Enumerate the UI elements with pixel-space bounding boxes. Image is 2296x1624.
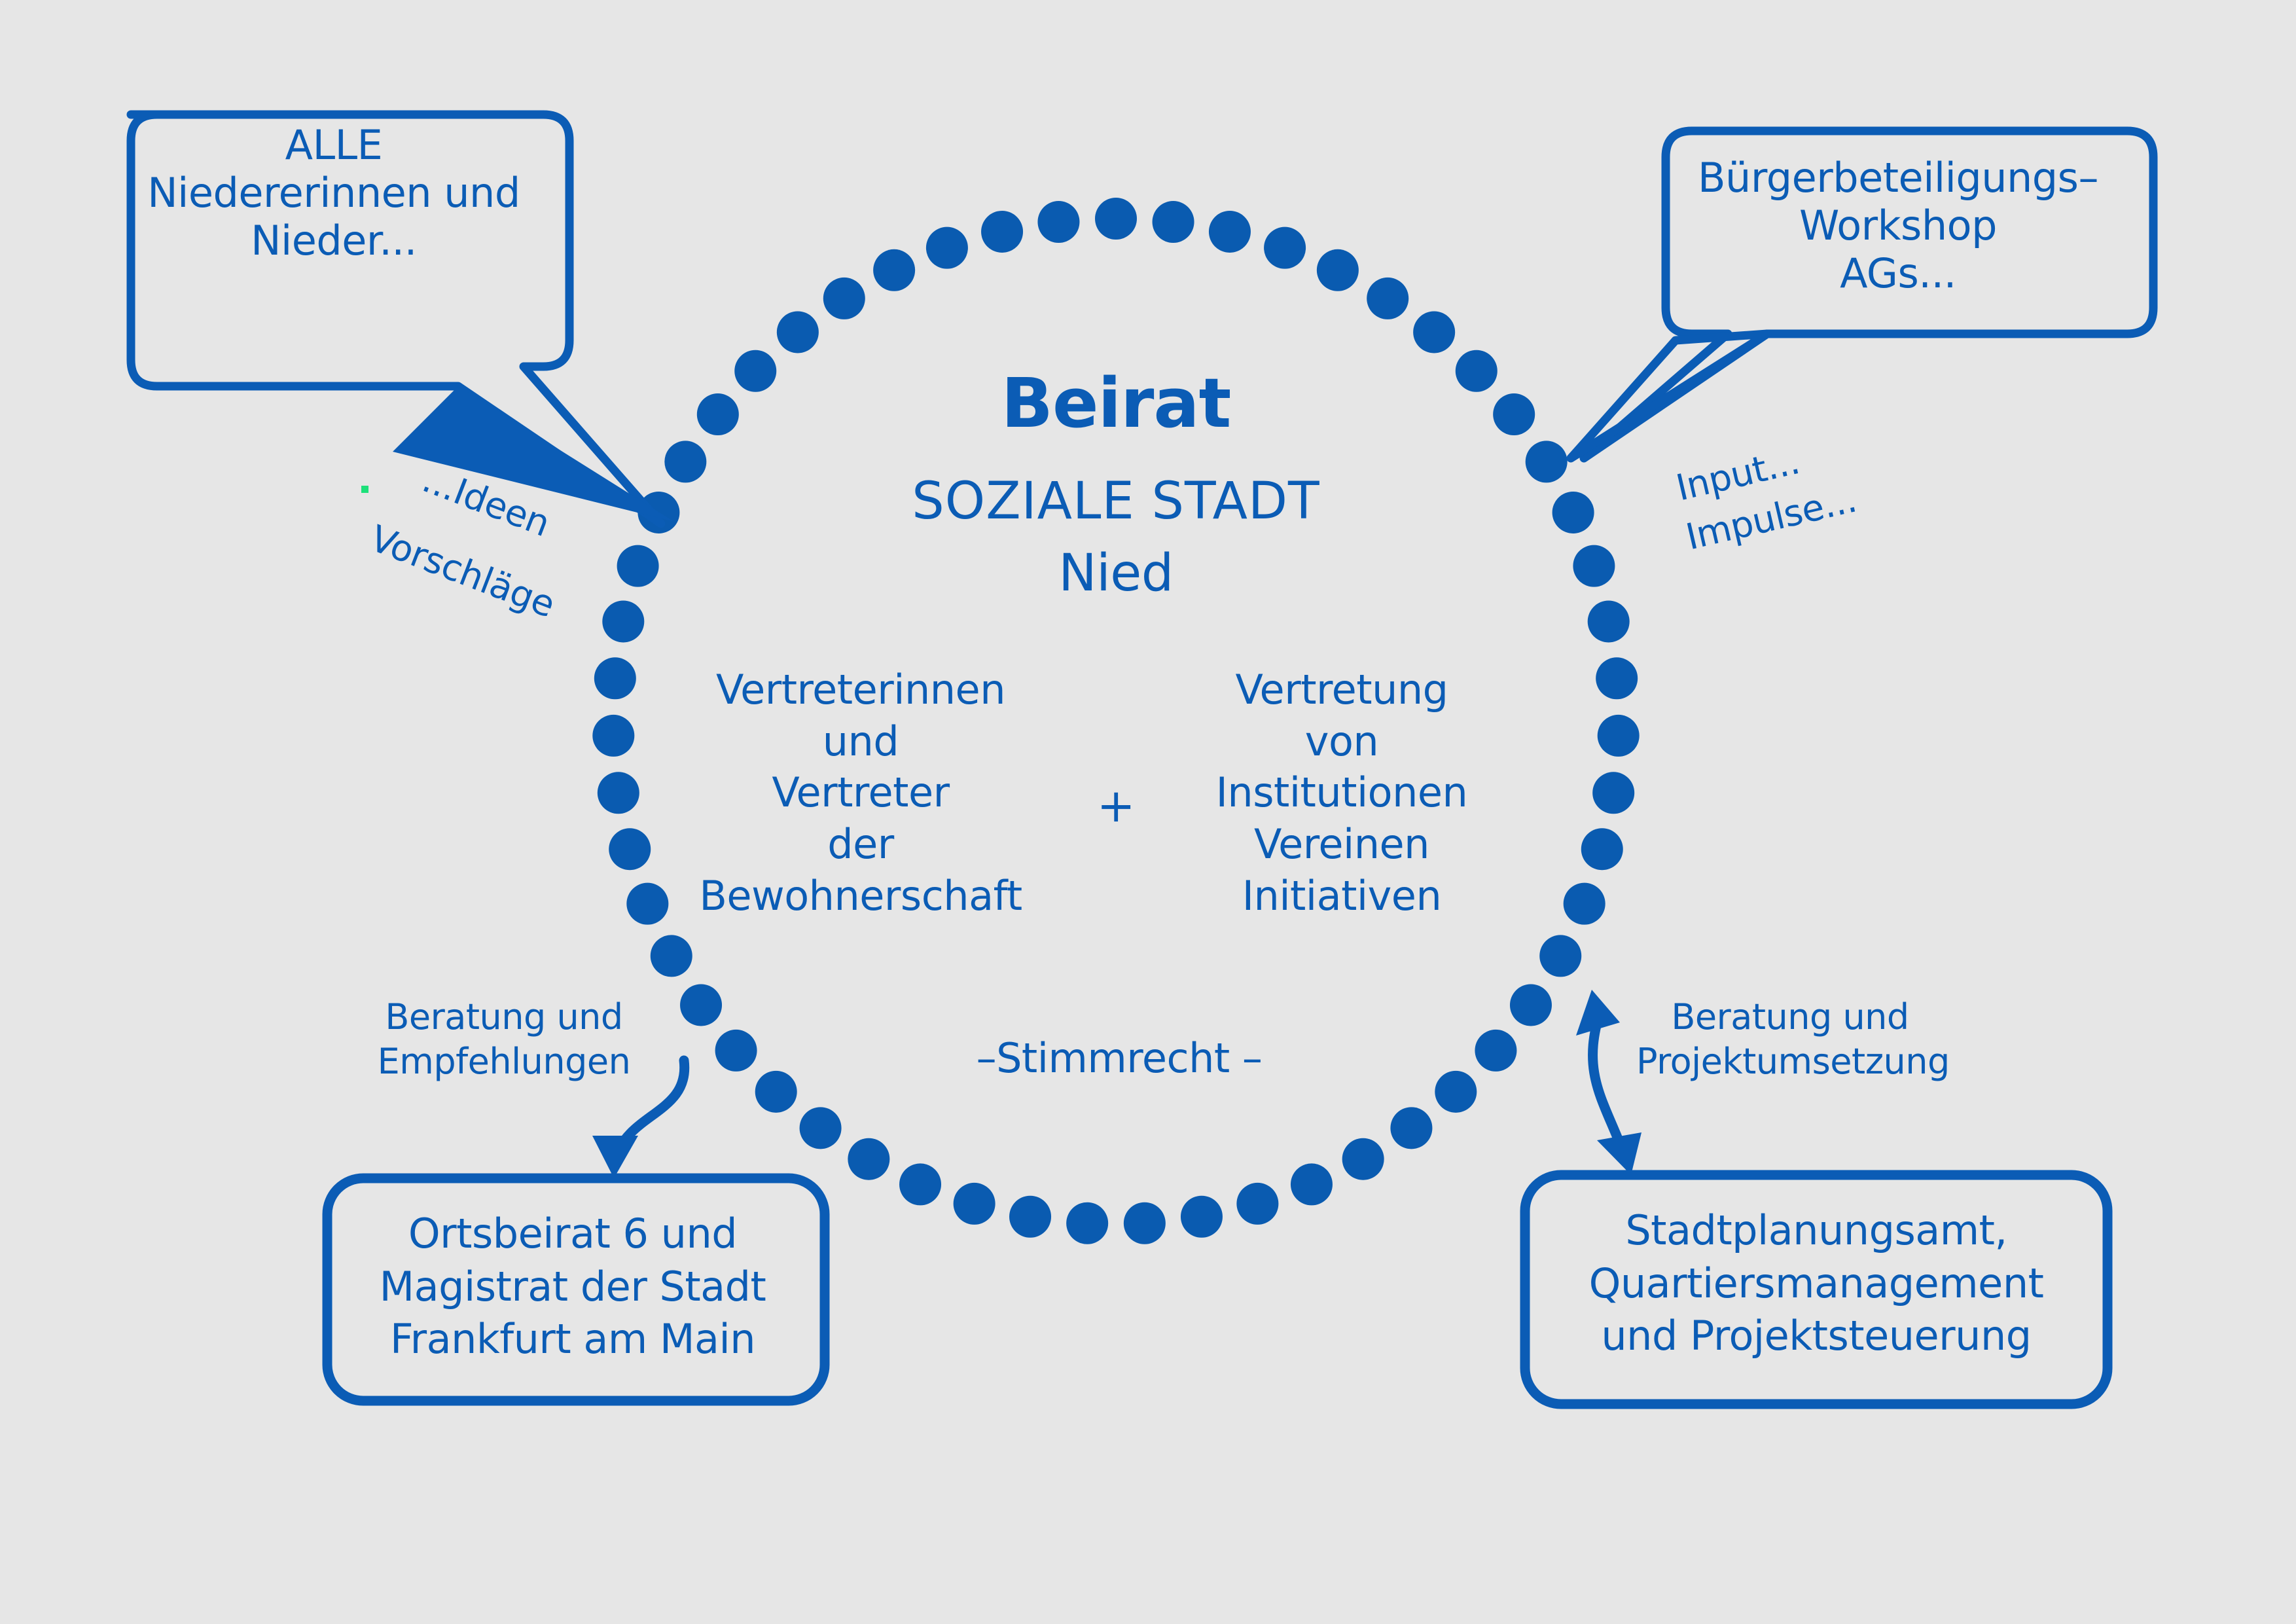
circle-dot (1037, 201, 1079, 243)
circle-dot (1564, 883, 1605, 925)
center-footnote-stimmrecht: –Stimmrecht – (903, 1034, 1335, 1082)
circle-dot (1181, 1196, 1223, 1238)
box-bottom-left-label: Ortsbeirat 6 und Magistrat der Stadt Fra… (340, 1208, 805, 1366)
circle-dot (1264, 227, 1306, 269)
circle-dot (734, 350, 776, 392)
center-title: Beirat (776, 363, 1456, 444)
circle-dot (1598, 715, 1640, 757)
circle-dot (1009, 1196, 1051, 1238)
circle-dot (651, 935, 692, 977)
circle-dot (697, 393, 739, 435)
annotation-beratung-empfehlungen: Beratung und Empfehlungen (367, 995, 641, 1083)
circle-dot (1153, 201, 1194, 243)
circle-dot (1581, 828, 1623, 870)
circle-dot (680, 984, 722, 1026)
circle-dot (609, 828, 651, 870)
arrow-advice-right (1576, 990, 1641, 1175)
center-plus-sign: + (1073, 779, 1158, 833)
circle-dot (1596, 657, 1638, 699)
box-bottom-right-label: Stadtplanungsamt, Quartiersmanagement un… (1532, 1204, 2101, 1363)
circle-dot (1066, 1202, 1108, 1244)
circle-dot (1209, 211, 1251, 253)
center-column-right: Vertretung von Institutionen Vereinen In… (1178, 664, 1505, 922)
speech-bubble-top-right-label: Bürgerbeteiligungs– Workshop AGs... (1662, 154, 2134, 297)
circle-dot (1390, 1107, 1432, 1149)
circle-dot (848, 1138, 889, 1180)
center-column-left: Vertreterinnen und Vertreter der Bewohne… (687, 664, 1034, 922)
circle-dot (755, 1071, 797, 1113)
circle-dot (1413, 311, 1455, 353)
circle-dot (626, 883, 668, 925)
circle-dot (1291, 1163, 1333, 1205)
circle-dot (1342, 1138, 1384, 1180)
circle-dot (1592, 772, 1634, 814)
circle-dot (592, 715, 634, 757)
circle-dot (1367, 278, 1408, 319)
circle-dot (1475, 1030, 1516, 1072)
bubble-tail-right-pointer (1571, 334, 1767, 458)
annotation-beratung-projektumsetzung: Beratung und Projektumsetzung (1636, 995, 1944, 1083)
circle-dot (823, 278, 865, 319)
circle-dot (1095, 198, 1137, 240)
center-subtitle-line2: Nied (776, 543, 1456, 604)
circle-dot (598, 772, 639, 814)
circle-dot (1493, 393, 1535, 435)
circle-dot (981, 211, 1023, 253)
circle-dot (777, 311, 819, 353)
circle-dot (1456, 350, 1498, 392)
circle-dot (594, 657, 636, 699)
circle-dot (899, 1163, 941, 1205)
circle-dot (1236, 1183, 1278, 1225)
diagram-canvas: ALLE Niedererinnen und Nieder... Bürgerb… (0, 0, 2296, 1624)
circle-dot (664, 441, 706, 482)
speech-bubble-top-left-label: ALLE Niedererinnen und Nieder... (98, 121, 569, 264)
circle-dot (954, 1183, 996, 1225)
circle-dot (1510, 984, 1552, 1026)
circle-dot (1317, 249, 1359, 291)
circle-dot (1526, 441, 1568, 482)
circle-dot (1573, 545, 1615, 587)
circle-dot (1552, 492, 1594, 533)
circle-dot (926, 227, 968, 269)
circle-dot (1588, 600, 1630, 642)
green-speck-artifact (361, 486, 368, 493)
circle-dot (1435, 1071, 1477, 1113)
circle-dot (1539, 935, 1581, 977)
circle-dot (800, 1107, 842, 1149)
circle-dot (715, 1030, 757, 1072)
circle-dot (1124, 1202, 1166, 1244)
center-subtitle-line1: SOZIALE STADT (776, 471, 1456, 532)
circle-dot (873, 249, 915, 291)
